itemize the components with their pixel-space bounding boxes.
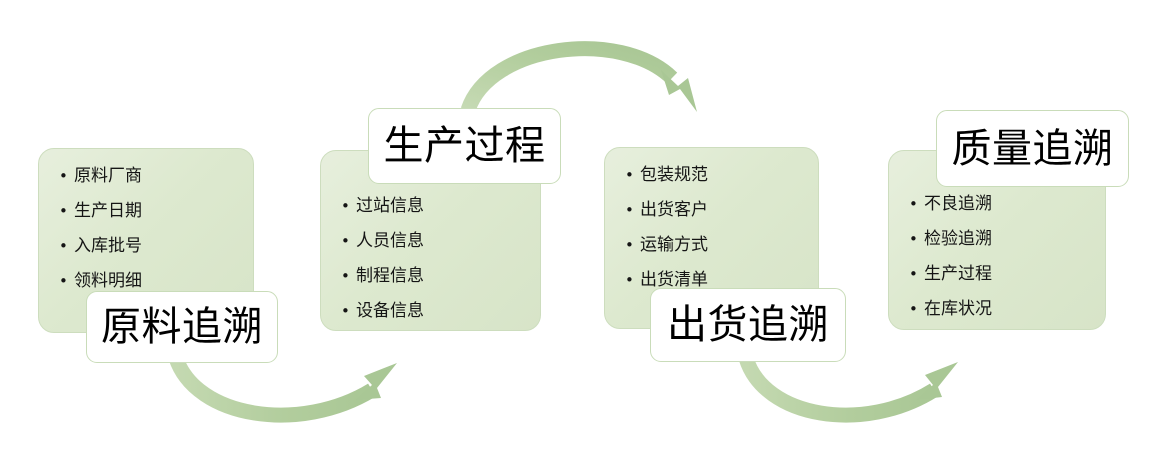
- bullet-icon: •: [59, 233, 68, 259]
- stage-callout-production-process: 生产过程: [368, 108, 561, 184]
- traceability-diagram: • 原料厂商 • 生产日期 • 入库批号 • 领料明细 原料追溯 • 过站信息: [0, 0, 1167, 471]
- list-item-label: 生产日期: [74, 201, 142, 221]
- list-item: • 人员信息: [339, 228, 530, 254]
- stage-callout-shipment: 出货追溯: [650, 288, 846, 362]
- stage-item-list-shipment: • 包装规范 • 出货客户 • 运输方式 • 出货清单: [623, 162, 808, 293]
- arrow-production-to-shipment: [468, 49, 697, 112]
- bullet-icon: •: [625, 232, 634, 258]
- bullet-icon: •: [909, 261, 918, 287]
- bullet-icon: •: [341, 298, 350, 324]
- list-item-label: 生产过程: [924, 264, 992, 284]
- list-item-label: 入库批号: [74, 236, 142, 256]
- bullet-icon: •: [341, 193, 350, 219]
- list-item-label: 设备信息: [356, 301, 424, 321]
- list-item: • 检验追溯: [907, 226, 1095, 252]
- list-item: • 生产过程: [907, 261, 1095, 287]
- stage-callout-label: 生产过程: [384, 126, 546, 166]
- bullet-icon: •: [909, 226, 918, 252]
- list-item: • 运输方式: [623, 232, 808, 258]
- stage-callout-label: 原料追溯: [101, 307, 263, 347]
- bullet-icon: •: [341, 228, 350, 254]
- bullet-icon: •: [59, 198, 68, 224]
- list-item: • 不良追溯: [907, 191, 1095, 217]
- list-item-label: 出货客户: [640, 200, 708, 220]
- bullet-icon: •: [59, 163, 68, 189]
- stage-callout-quality: 质量追溯: [936, 110, 1129, 187]
- arrow-shipment-to-quality: [746, 358, 958, 415]
- list-item: • 包装规范: [623, 162, 808, 188]
- arrow-raw-to-production: [176, 358, 397, 415]
- bullet-icon: •: [625, 267, 634, 293]
- list-item-label: 原料厂商: [74, 166, 142, 186]
- list-item: • 制程信息: [339, 263, 530, 289]
- list-item: • 原料厂商: [57, 163, 243, 189]
- list-item-label: 出货清单: [640, 270, 708, 290]
- bullet-icon: •: [625, 197, 634, 223]
- bullet-icon: •: [341, 263, 350, 289]
- list-item: • 过站信息: [339, 193, 530, 219]
- stage-item-list-quality: • 不良追溯 • 检验追溯 • 生产过程 • 在库状况: [907, 191, 1095, 322]
- list-item: • 入库批号: [57, 233, 243, 259]
- list-item-label: 制程信息: [356, 266, 424, 286]
- list-item-label: 检验追溯: [924, 229, 992, 249]
- stage-callout-label: 出货追溯: [667, 305, 829, 345]
- list-item-label: 运输方式: [640, 235, 708, 255]
- bullet-icon: •: [625, 162, 634, 188]
- bullet-icon: •: [909, 296, 918, 322]
- list-item: • 在库状况: [907, 296, 1095, 322]
- list-item-label: 不良追溯: [924, 194, 992, 214]
- list-item-label: 在库状况: [924, 299, 992, 319]
- list-item: • 出货客户: [623, 197, 808, 223]
- list-item-label: 人员信息: [356, 231, 424, 251]
- list-item: • 设备信息: [339, 298, 530, 324]
- stage-item-list-raw-material: • 原料厂商 • 生产日期 • 入库批号 • 领料明细: [57, 163, 243, 294]
- list-item-label: 过站信息: [356, 196, 424, 216]
- list-item: • 生产日期: [57, 198, 243, 224]
- list-item-label: 包装规范: [640, 165, 708, 185]
- stage-item-list-production-process: • 过站信息 • 人员信息 • 制程信息 • 设备信息: [339, 193, 530, 324]
- bullet-icon: •: [909, 191, 918, 217]
- stage-callout-label: 质量追溯: [952, 129, 1114, 169]
- bullet-icon: •: [59, 268, 68, 294]
- stage-callout-raw-material: 原料追溯: [86, 291, 278, 363]
- list-item-label: 领料明细: [74, 271, 142, 291]
